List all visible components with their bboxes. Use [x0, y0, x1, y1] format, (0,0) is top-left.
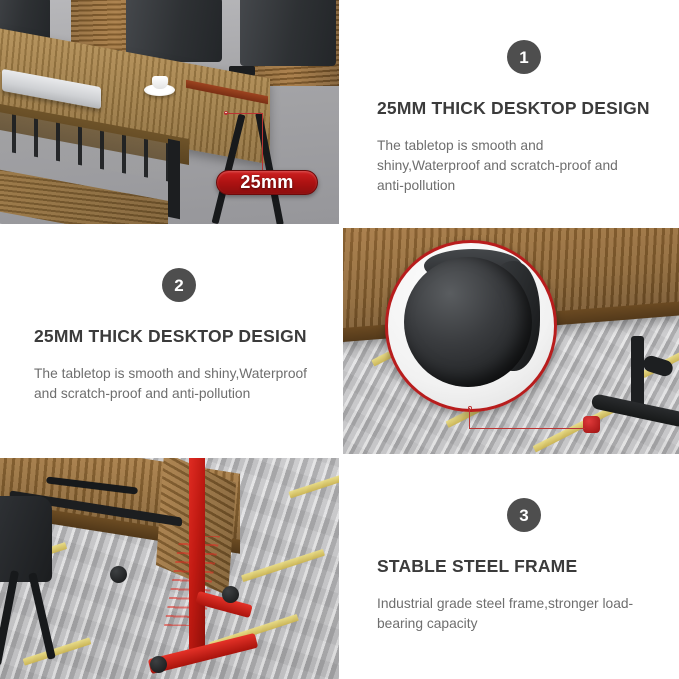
- callout-anchor-dot-top: [224, 111, 228, 115]
- feature-text-1: 1 25MM THICK DESKTOP DESIGN The tabletop…: [343, 0, 679, 224]
- table-leg-post-b: [631, 336, 644, 408]
- feature-text-3: 3 STABLE STEEL FRAME Industrial grade st…: [343, 458, 679, 679]
- feature-collage: 25mm 1 25MM THICK DESKTOP DESIGN The tab…: [0, 0, 679, 679]
- caster-c-rear: [222, 586, 239, 603]
- feature-title-2: 25MM THICK DESKTOP DESIGN: [34, 326, 307, 347]
- caster-c-front: [150, 656, 167, 673]
- feature-body-2: The tabletop is smooth and shiny,Waterpr…: [34, 364, 307, 404]
- feature-body-3: Industrial grade steel frame,stronger lo…: [377, 594, 647, 634]
- thickness-badge: 25mm: [216, 170, 318, 195]
- table-leg-bracket: [168, 139, 180, 220]
- feature-text-2: 2 25MM THICK DESKTOP DESIGN The tabletop…: [0, 228, 339, 454]
- feature-title-3: STABLE STEEL FRAME: [377, 556, 577, 577]
- caster-wheel: [404, 257, 532, 387]
- chair-left-c: [0, 496, 52, 582]
- chair-back-right: [240, 0, 336, 66]
- thickness-badge-label: 25mm: [240, 172, 293, 193]
- red-steel-post: [189, 458, 205, 654]
- photo-caster-zoom: [343, 228, 679, 454]
- feature-title-1: 25MM THICK DESKTOP DESIGN: [377, 98, 650, 119]
- zoom-anchor-dot-top: [468, 406, 472, 410]
- caster-zoom-inset: [385, 240, 557, 412]
- feature-body-1: The tabletop is smooth and shiny,Waterpr…: [377, 136, 647, 196]
- chair-back-center: [126, 0, 222, 62]
- feature-number-badge-3: 3: [507, 498, 541, 532]
- feature-number-badge-1: 1: [507, 40, 541, 74]
- photo-red-frame: [0, 458, 339, 679]
- red-caster-target: [583, 416, 600, 433]
- caster-c-mid: [110, 566, 127, 583]
- photo-meeting-table: 25mm: [0, 0, 339, 224]
- coffee-cup: [152, 76, 168, 89]
- feature-number-badge-2: 2: [162, 268, 196, 302]
